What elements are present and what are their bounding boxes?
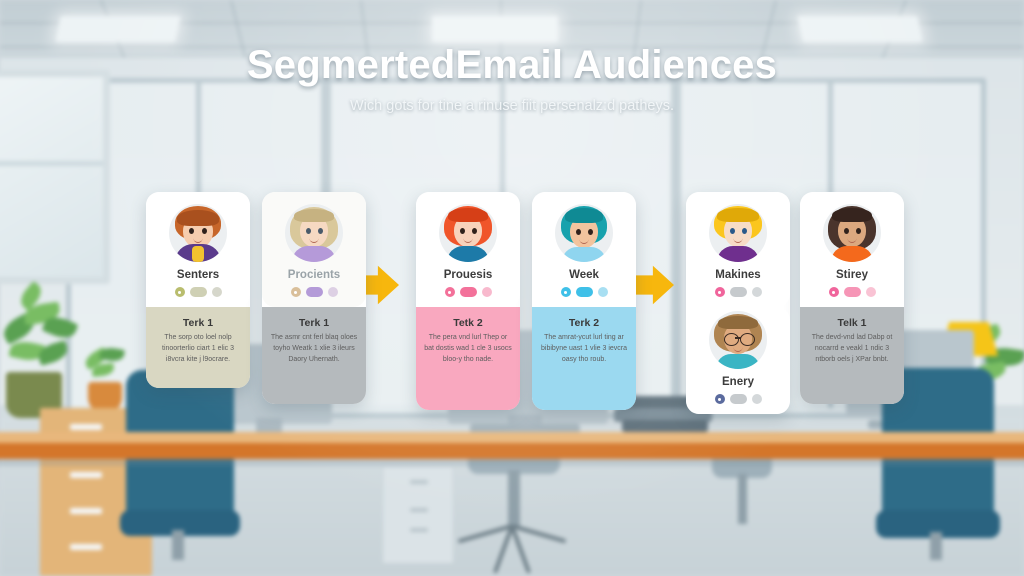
persona-card-senters[interactable]: Senters Terk 1 The sorp oto loel nolp ti… — [146, 192, 250, 388]
page-title: SegmertedEmail Audiences — [0, 44, 1024, 86]
ceiling-light-1 — [55, 16, 181, 42]
task-label: Tetk 2 — [424, 317, 512, 329]
task-description: The pera vnd lurl Thep or bat dostis wad… — [424, 333, 512, 366]
avatar — [285, 204, 343, 262]
persona-card-week[interactable]: Week Terk 2 The amrat-ycut lurl ting ar … — [532, 192, 636, 410]
persona-name: Procients — [270, 269, 358, 281]
dot-2 — [576, 287, 593, 297]
persona-name: Prouesis — [424, 269, 512, 281]
dot-2 — [460, 287, 477, 297]
persona-card-prouesis[interactable]: Prouesis Tetk 2 The pera vnd lurl Thep o… — [416, 192, 520, 410]
header: SegmertedEmail Audiences Wich gots for t… — [0, 44, 1024, 114]
task-description: The amrat-ycut lurl ting ar bibibyne uas… — [540, 333, 628, 366]
dot-1 — [445, 287, 455, 297]
dot-1 — [715, 394, 725, 404]
dot-2 — [306, 287, 323, 297]
task-label: Telk 1 — [808, 317, 896, 329]
card-body: Telk 1 The devd-vnd lad Dabp ot nocarrd … — [800, 307, 904, 404]
dot-3 — [328, 287, 338, 297]
dot-1 — [829, 287, 839, 297]
dot-3 — [752, 394, 762, 404]
persona-dots — [270, 287, 358, 297]
avatar — [169, 204, 227, 262]
task-label: Terk 1 — [270, 317, 358, 329]
persona-dots-secondary — [694, 394, 782, 404]
card-header: Stirey — [800, 192, 904, 307]
desk-shadow — [0, 459, 1024, 466]
card-header: Makines — [686, 192, 790, 307]
card-header: Procients — [262, 192, 366, 307]
persona-dots — [808, 287, 896, 297]
dot-2 — [190, 287, 207, 297]
card-header-secondary: Enery — [686, 307, 790, 414]
persona-name-secondary: Enery — [694, 376, 782, 388]
task-description: The sorp oto loel nolp tinoorterlio ciar… — [154, 333, 242, 366]
task-description: The devd-vnd lad Dabp ot nocarrd e veakl… — [808, 333, 896, 366]
dot-2 — [844, 287, 861, 297]
avatar — [439, 204, 497, 262]
persona-dots — [154, 287, 242, 297]
persona-name: Senters — [154, 269, 242, 281]
dot-2 — [730, 287, 747, 297]
ceiling-light-3 — [797, 16, 923, 42]
slide-canvas: SegmertedEmail Audiences Wich gots for t… — [0, 0, 1024, 576]
persona-card-row: Senters Terk 1 The sorp oto loel nolp ti… — [0, 192, 1024, 422]
card-body: Terk 2 The amrat-ycut lurl ting ar bibib… — [532, 307, 636, 410]
dot-3 — [212, 287, 222, 297]
persona-card-stirey[interactable]: Stirey Telk 1 The devd-vnd lad Dabp ot n… — [800, 192, 904, 404]
persona-name: Makines — [694, 269, 782, 281]
persona-dots — [424, 287, 512, 297]
card-body: Terk 1 The sorp oto loel nolp tinoorterl… — [146, 307, 250, 388]
dot-3 — [752, 287, 762, 297]
dot-1 — [561, 287, 571, 297]
persona-dots — [540, 287, 628, 297]
dot-1 — [291, 287, 301, 297]
task-label: Terk 1 — [154, 317, 242, 329]
card-header: Senters — [146, 192, 250, 307]
card-body: Tetk 2 The pera vnd lurl Thep or bat dos… — [416, 307, 520, 410]
ceiling-light-2 — [432, 16, 558, 42]
card-header: Prouesis — [416, 192, 520, 307]
dot-1 — [715, 287, 725, 297]
task-label: Terk 2 — [540, 317, 628, 329]
avatar-secondary — [709, 311, 767, 369]
avatar — [709, 204, 767, 262]
dot-3 — [482, 287, 492, 297]
page-subtitle: Wich gots for tine a rinuse fiit persena… — [0, 98, 1024, 114]
task-description: The asmr cnt ferl blaq oloes toyho Weatk… — [270, 333, 358, 366]
glasses-icon — [709, 333, 767, 343]
dot-1 — [175, 287, 185, 297]
persona-dots — [694, 287, 782, 297]
dot-3 — [598, 287, 608, 297]
dot-2 — [730, 394, 747, 404]
dot-3 — [866, 287, 876, 297]
card-body: Terk 1 The asmr cnt ferl blaq oloes toyh… — [262, 307, 366, 404]
avatar — [555, 204, 613, 262]
avatar — [823, 204, 881, 262]
persona-name: Stirey — [808, 269, 896, 281]
card-header: Week — [532, 192, 636, 307]
persona-card-makines[interactable]: Makines Enery — [686, 192, 790, 414]
desk-edge — [0, 443, 1024, 459]
persona-card-procients[interactable]: Procients Terk 1 The asmr cnt ferl blaq … — [262, 192, 366, 404]
persona-name: Week — [540, 269, 628, 281]
